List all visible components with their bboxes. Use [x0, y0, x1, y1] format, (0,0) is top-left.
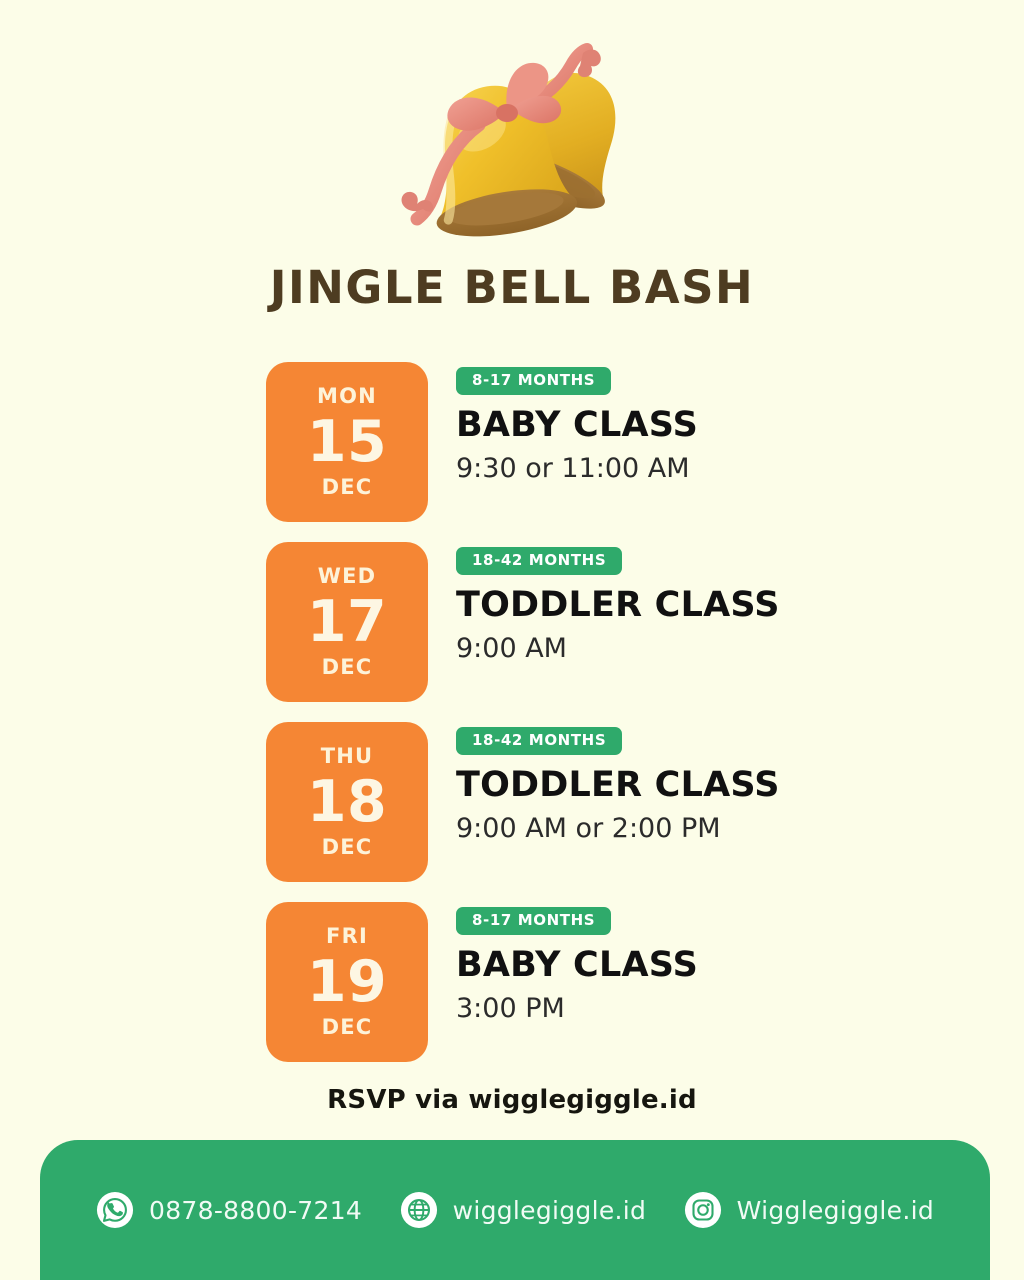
date-card: THU 18 DEC [266, 722, 428, 882]
page-title: JINGLE BELL BASH [0, 265, 1024, 310]
rsvp-text: RSVP via wigglegiggle.id [0, 1085, 1024, 1115]
contact-label: 0878-8800-7214 [149, 1196, 362, 1225]
class-time: 9:00 AM [456, 635, 567, 663]
class-time: 3:00 PM [456, 995, 565, 1023]
whatsapp-icon [96, 1191, 134, 1229]
contact-instagram[interactable]: Wigglegiggle.id [684, 1191, 934, 1229]
date-day-number: 19 [307, 953, 387, 1013]
date-day-of-week: THU [321, 746, 374, 767]
schedule-row-details: 8-17 MONTHS BABY CLASS 3:00 PM [428, 902, 698, 1023]
schedule-row[interactable]: WED 17 DEC 18-42 MONTHS TODDLER CLASS 9:… [266, 542, 826, 702]
schedule-row-details: 8-17 MONTHS BABY CLASS 9:30 or 11:00 AM [428, 362, 698, 483]
age-range-badge: 18-42 MONTHS [456, 727, 622, 755]
schedule-row[interactable]: MON 15 DEC 8-17 MONTHS BABY CLASS 9:30 o… [266, 362, 826, 522]
globe-icon [400, 1191, 438, 1229]
schedule-list: MON 15 DEC 8-17 MONTHS BABY CLASS 9:30 o… [266, 362, 826, 1062]
class-time: 9:00 AM or 2:00 PM [456, 815, 721, 843]
date-card: MON 15 DEC [266, 362, 428, 522]
date-month: DEC [322, 837, 373, 858]
date-card: WED 17 DEC [266, 542, 428, 702]
date-month: DEC [322, 1017, 373, 1038]
contact-label: wigglegiggle.id [453, 1196, 647, 1225]
contact-whatsapp[interactable]: 0878-8800-7214 [96, 1191, 362, 1229]
age-range-badge: 18-42 MONTHS [456, 547, 622, 575]
instagram-icon [684, 1191, 722, 1229]
schedule-row-details: 18-42 MONTHS TODDLER CLASS 9:00 AM or 2:… [428, 722, 780, 843]
hero-illustration [0, 30, 1024, 265]
age-range-badge: 8-17 MONTHS [456, 907, 611, 935]
contact-website[interactable]: wigglegiggle.id [400, 1191, 647, 1229]
class-name: TODDLER CLASS [456, 587, 780, 624]
date-day-number: 18 [307, 773, 387, 833]
schedule-row[interactable]: THU 18 DEC 18-42 MONTHS TODDLER CLASS 9:… [266, 722, 826, 882]
christmas-bells-icon [387, 33, 637, 263]
date-day-of-week: WED [318, 566, 377, 587]
age-range-badge: 8-17 MONTHS [456, 367, 611, 395]
date-day-number: 17 [307, 593, 387, 653]
date-day-of-week: MON [317, 386, 377, 407]
date-month: DEC [322, 477, 373, 498]
contact-label: Wigglegiggle.id [737, 1196, 934, 1225]
date-day-number: 15 [307, 413, 387, 473]
date-card: FRI 19 DEC [266, 902, 428, 1062]
class-name: BABY CLASS [456, 947, 698, 984]
footer-contact-bar: 0878-8800-7214 wigglegiggle.id Wiggl [40, 1140, 990, 1280]
class-time: 9:30 or 11:00 AM [456, 455, 690, 483]
class-name: TODDLER CLASS [456, 767, 780, 804]
schedule-row[interactable]: FRI 19 DEC 8-17 MONTHS BABY CLASS 3:00 P… [266, 902, 826, 1062]
poster-root: JINGLE BELL BASH MON 15 DEC 8-17 MONTHS … [0, 0, 1024, 1280]
schedule-row-details: 18-42 MONTHS TODDLER CLASS 9:00 AM [428, 542, 780, 663]
class-name: BABY CLASS [456, 407, 698, 444]
date-day-of-week: FRI [326, 926, 368, 947]
date-month: DEC [322, 657, 373, 678]
